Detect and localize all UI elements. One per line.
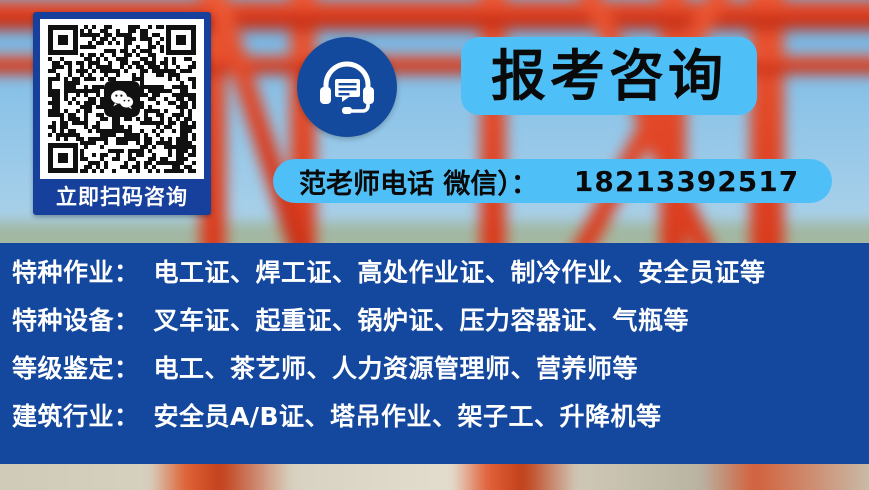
info-row: 等级鉴定： 电工、茶艺师、人力资源管理师、营养师等 (0, 349, 869, 397)
info-row: 建筑行业： 安全员A/B证、塔吊作业、架子工、升降机等 (0, 397, 869, 445)
qr-code-image[interactable] (40, 19, 204, 179)
contact-phone-number[interactable]: 18213392517 (574, 165, 799, 198)
info-row-category: 建筑行业： (12, 397, 140, 433)
title-banner: 报考咨询 (461, 37, 757, 115)
qr-finder-icon (166, 25, 196, 55)
info-row-category: 等级鉴定： (12, 349, 140, 385)
page-title: 报考咨询 (491, 49, 727, 104)
qr-finder-icon (48, 143, 78, 173)
contact-banner[interactable]: 范老师电话 微信）： 18213392517 (273, 159, 832, 203)
qr-code-card[interactable]: 立即扫码咨询 (33, 12, 211, 215)
qr-finder-icon (48, 25, 78, 55)
bottom-photo-strip (0, 464, 869, 490)
info-row: 特种作业： 电工证、焊工证、高处作业证、制冷作业、安全员证等 (0, 253, 869, 301)
qr-card-label: 立即扫码咨询 (56, 179, 188, 215)
contact-label: 范老师电话 微信）： (299, 162, 538, 201)
certificate-list-panel: 特种作业： 电工证、焊工证、高处作业证、制冷作业、安全员证等 特种设备： 叉车证… (0, 243, 869, 464)
headset-support-icon (297, 37, 397, 137)
info-row-category: 特种作业： (12, 253, 140, 289)
info-row-category: 特种设备： (12, 301, 140, 337)
info-row-items: 电工、茶艺师、人力资源管理师、营养师等 (154, 349, 639, 385)
info-row-items: 叉车证、起重证、锅炉证、压力容器证、气瓶等 (154, 301, 690, 337)
info-row-items: 电工证、焊工证、高处作业证、制冷作业、安全员证等 (154, 253, 766, 289)
info-row: 特种设备： 叉车证、起重证、锅炉证、压力容器证、气瓶等 (0, 301, 869, 349)
wechat-icon (104, 81, 140, 117)
info-row-items: 安全员A/B证、塔吊作业、架子工、升降机等 (154, 397, 662, 433)
promo-poster: 立即扫码咨询 报考咨询 范老师电话 微信）： 18213392517 特种作业：… (0, 0, 869, 490)
